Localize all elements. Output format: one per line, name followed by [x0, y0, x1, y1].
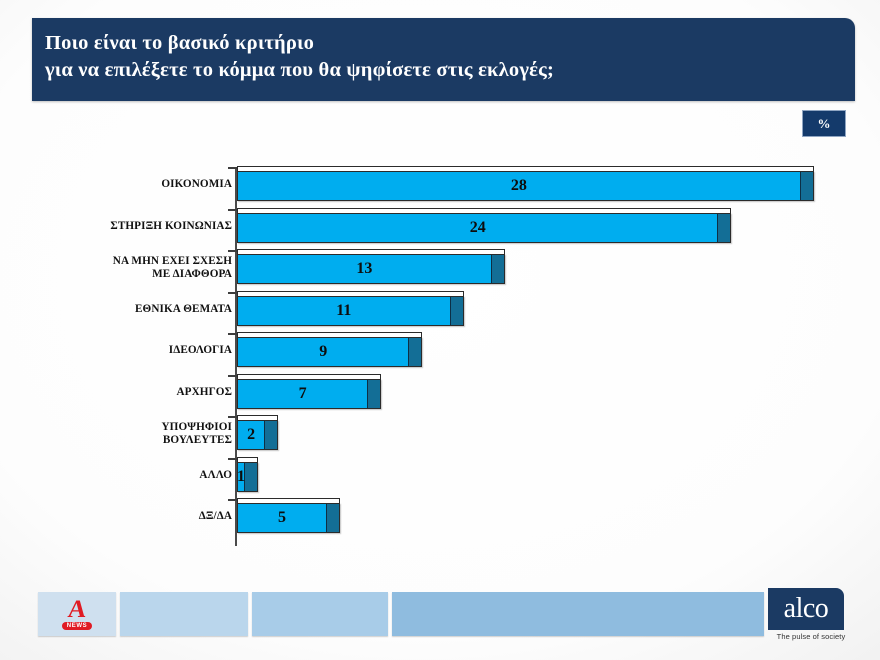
bar-end-cap	[491, 255, 504, 283]
bar[interactable]: 11	[237, 296, 464, 326]
bar-value-label: 11	[336, 302, 351, 320]
bar-row: ΝΑ ΜΗΝ ΕΧΕΙ ΣΧΕΣΗ ΜΕ ΔΙΑΦΘΟΡΑ13	[0, 249, 880, 287]
bar-row: ΔΞ/ΔΑ5	[0, 498, 880, 536]
bar-row: ΣΤΗΡΙΞΗ ΚΟΙΝΩΝΙΑΣ24	[0, 208, 880, 246]
header-banner: Ποιο είναι το βασικό κριτήριο για να επι…	[32, 18, 855, 101]
bar-category-label: ΟΙΚΟΝΟΜΙΑ	[32, 166, 232, 204]
bar-end-cap	[408, 338, 421, 366]
bar-category-label: ΥΠΟΨΗΦΙΟΙ ΒΟΥΛΕΥΤΕΣ	[32, 415, 232, 453]
axis-tick	[228, 167, 237, 169]
bar-category-label: ΝΑ ΜΗΝ ΕΧΕΙ ΣΧΕΣΗ ΜΕ ΔΙΑΦΘΟΡΑ	[32, 249, 232, 287]
axis-tick	[228, 333, 237, 335]
bar-value-label: 2	[247, 426, 255, 444]
bar-body: 13	[238, 255, 491, 283]
bar[interactable]: 7	[237, 379, 381, 409]
bar-row: ΙΔΕΟΛΟΓΙΑ9	[0, 332, 880, 370]
page-title: Ποιο είναι το βασικό κριτήριο για να επι…	[45, 30, 845, 84]
bar-end-cap	[800, 172, 813, 200]
footer-block-3	[252, 592, 388, 636]
bar[interactable]: 13	[237, 254, 505, 284]
alpha-news-logo: A NEWS	[38, 592, 116, 636]
bar-row: ΟΙΚΟΝΟΜΙΑ28	[0, 166, 880, 204]
bar[interactable]: 28	[237, 171, 814, 201]
unit-badge: %	[802, 110, 846, 137]
bar-category-label: ΕΘΝΙΚΑ ΘΕΜΑΤΑ	[32, 291, 232, 329]
bar-body: 2	[238, 421, 264, 449]
bar-row: ΥΠΟΨΗΦΙΟΙ ΒΟΥΛΕΥΤΕΣ2	[0, 415, 880, 453]
bar-category-label: ΔΞ/ΔΑ	[32, 498, 232, 536]
bar-end-cap	[326, 504, 339, 532]
axis-tick	[228, 292, 237, 294]
alco-tagline: The pulse of society	[756, 632, 866, 641]
bar-value-label: 1	[237, 468, 245, 486]
bar-category-label: ΙΔΕΟΛΟΓΙΑ	[32, 332, 232, 370]
bar-value-label: 9	[319, 343, 327, 361]
alco-logo-text: alco	[784, 595, 829, 623]
axis-tick	[228, 499, 237, 501]
axis-tick	[228, 375, 237, 377]
bar-end-cap	[367, 380, 380, 408]
bar-row: ΑΡΧΗΓΟΣ7	[0, 374, 880, 412]
bar-category-label: ΑΡΧΗΓΟΣ	[32, 374, 232, 412]
bar-body: 5	[238, 504, 326, 532]
bar-category-label: ΑΛΛΟ	[32, 457, 232, 495]
slide-canvas: Ποιο είναι το βασικό κριτήριο για να επι…	[0, 0, 880, 660]
bar-body: 24	[238, 214, 717, 242]
bar-body: 7	[238, 380, 367, 408]
bar-row: ΑΛΛΟ1	[0, 457, 880, 495]
bar-end-cap	[264, 421, 277, 449]
bar[interactable]: 9	[237, 337, 422, 367]
bar-end-cap	[244, 463, 257, 491]
bar-end-cap	[450, 297, 463, 325]
bar-body: 9	[238, 338, 408, 366]
bar-body: 28	[238, 172, 800, 200]
bar-value-label: 28	[511, 177, 527, 195]
footer-block-2	[120, 592, 248, 636]
bar-body: 11	[238, 297, 450, 325]
alco-logo: alco	[768, 588, 844, 630]
bar-value-label: 7	[299, 385, 307, 403]
axis-tick	[228, 250, 237, 252]
bar-chart: ΟΙΚΟΝΟΜΙΑ28ΣΤΗΡΙΞΗ ΚΟΙΝΩΝΙΑΣ24ΝΑ ΜΗΝ ΕΧΕ…	[0, 160, 880, 550]
axis-tick	[228, 416, 237, 418]
bar-body: 1	[238, 463, 244, 491]
axis-tick	[228, 458, 237, 460]
bar[interactable]: 2	[237, 420, 278, 450]
footer-bar: A NEWS	[0, 580, 880, 660]
bar-value-label: 24	[470, 219, 486, 237]
bar[interactable]: 1	[237, 462, 258, 492]
bar-row: ΕΘΝΙΚΑ ΘΕΜΑΤΑ11	[0, 291, 880, 329]
bar-end-cap	[717, 214, 730, 242]
bar-category-label: ΣΤΗΡΙΞΗ ΚΟΙΝΩΝΙΑΣ	[32, 208, 232, 246]
bar-value-label: 13	[356, 260, 372, 278]
bar[interactable]: 24	[237, 213, 731, 243]
bar-value-label: 5	[278, 509, 286, 527]
alpha-logo-letter: A	[67, 599, 87, 621]
footer-block-4	[392, 592, 764, 636]
axis-tick	[228, 209, 237, 211]
bar[interactable]: 5	[237, 503, 340, 533]
